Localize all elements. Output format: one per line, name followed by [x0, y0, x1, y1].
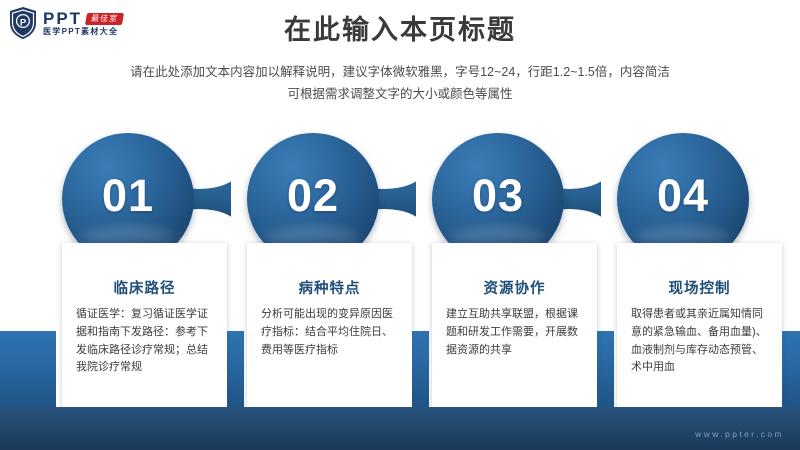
card-title: 现场控制 — [617, 277, 782, 298]
card-body: 循证医学：复习循证医学证据和指南下发路径：参考下发临床路径诊疗常规；总结我院诊疗… — [76, 306, 213, 377]
footer-bar — [0, 407, 800, 450]
footer-url: www.ppter.com — [695, 429, 784, 439]
decor-block-left — [0, 331, 56, 407]
step-card-04[interactable]: 现场控制 取得患者或其亲近属知情同意的紧急输血、备用血量)、血液制剂与库存动态预… — [617, 243, 782, 415]
card-body: 取得患者或其亲近属知情同意的紧急输血、备用血量)、血液制剂与库存动态预管、术中用… — [631, 306, 768, 377]
card-body: 建立互助共享联盟，根据课题和研发工作需要，开展数据资源的共享 — [446, 306, 583, 359]
page-subtitle: 请在此处添加文本内容加以解释说明，建议字体微软雅黑，字号12~24，行距1.2~… — [0, 62, 800, 106]
step-card-01[interactable]: 临床路径 循证医学：复习循证医学证据和指南下发路径：参考下发临床路径诊疗常规；总… — [62, 243, 227, 415]
card-body: 分析可能出现的变异原因医疗指标：结合平均住院日、费用等医疗指标 — [261, 306, 398, 359]
card-title: 临床路径 — [62, 277, 227, 298]
card-title: 资源协作 — [432, 277, 597, 298]
step-card-03[interactable]: 资源协作 建立互助共享联盟，根据课题和研发工作需要，开展数据资源的共享 — [432, 243, 597, 415]
card-title: 病种特点 — [247, 277, 412, 298]
subtitle-line-2: 可根据需求调整文字的大小或颜色等属性 — [0, 84, 800, 106]
subtitle-line-1: 请在此处添加文本内容加以解释说明，建议字体微软雅黑，字号12~24，行距1.2~… — [0, 62, 800, 84]
step-card-02[interactable]: 病种特点 分析可能出现的变异原因医疗指标：结合平均住院日、费用等医疗指标 — [247, 243, 412, 415]
page-title: 在此输入本页标题 — [0, 16, 800, 46]
